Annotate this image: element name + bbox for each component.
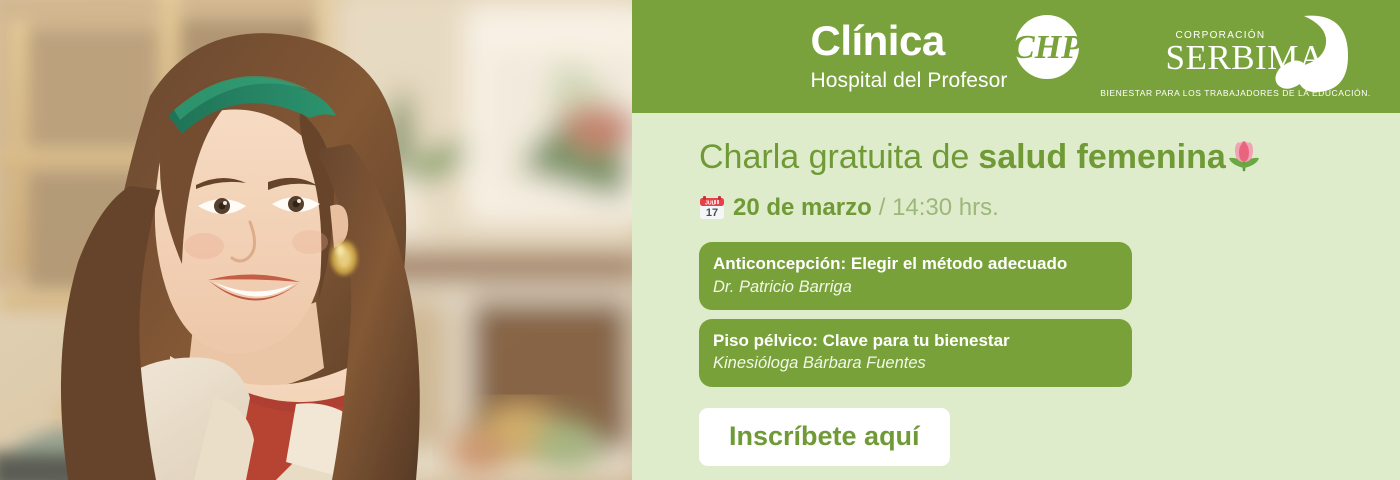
- event-time: / 14:30 hrs.: [879, 194, 999, 222]
- talk-card[interactable]: Piso pélvico: Clave para tu bienestar Ki…: [699, 319, 1132, 387]
- page-title: Charla gratuita de salud femenina: [699, 139, 1400, 176]
- svg-text:17: 17: [706, 207, 718, 219]
- cta-container: Inscríbete aquí: [699, 408, 1400, 466]
- talk-card[interactable]: Anticoncepción: Elegir el método adecuad…: [699, 242, 1132, 310]
- headline-strong-text: salud femenina: [978, 139, 1226, 176]
- promo-banner: Clínica Hospital del Profesor CHP CORPOR…: [0, 0, 1400, 480]
- logo-header: Clínica Hospital del Profesor CHP CORPOR…: [632, 0, 1400, 113]
- chp-monogram-icon: CHP: [1014, 14, 1080, 80]
- talk-title: Piso pélvico: Clave para tu bienestar: [713, 330, 1116, 351]
- talk-title: Anticoncepción: Elegir el método adecuad…: [713, 253, 1116, 274]
- talks-list: Anticoncepción: Elegir el método adecuad…: [699, 242, 1400, 386]
- panel-content: Charla gratuita de salud femenina: [632, 113, 1400, 480]
- serbima-logo-name: SERBIMA: [1166, 40, 1325, 75]
- tulip-icon: [1227, 140, 1261, 176]
- clinica-logo-name: Clínica: [810, 20, 944, 62]
- serbima-logo: CORPORACIÓN SERBIMA BIENESTAR PARA LOS T…: [1120, 16, 1352, 98]
- clinica-logo: Clínica Hospital del Profesor CHP: [810, 20, 1079, 92]
- hero-photo-illustration: [0, 0, 632, 480]
- svg-text:CHP: CHP: [1014, 29, 1080, 66]
- calendar-icon: JUL 17: [699, 195, 725, 221]
- headline-light-text: Charla gratuita de: [699, 139, 969, 176]
- talk-speaker: Dr. Patricio Barriga: [713, 277, 1116, 298]
- event-datetime: JUL 17 20 de marzo / 14:30 hrs.: [699, 194, 1400, 222]
- talk-speaker: Kinesióloga Bárbara Fuentes: [713, 353, 1116, 374]
- clinica-logo-subtitle: Hospital del Profesor: [810, 69, 1007, 92]
- register-button[interactable]: Inscríbete aquí: [699, 408, 950, 466]
- event-date: 20 de marzo: [733, 194, 872, 222]
- info-panel: Clínica Hospital del Profesor CHP CORPOR…: [632, 0, 1400, 480]
- hero-photo: [0, 0, 632, 480]
